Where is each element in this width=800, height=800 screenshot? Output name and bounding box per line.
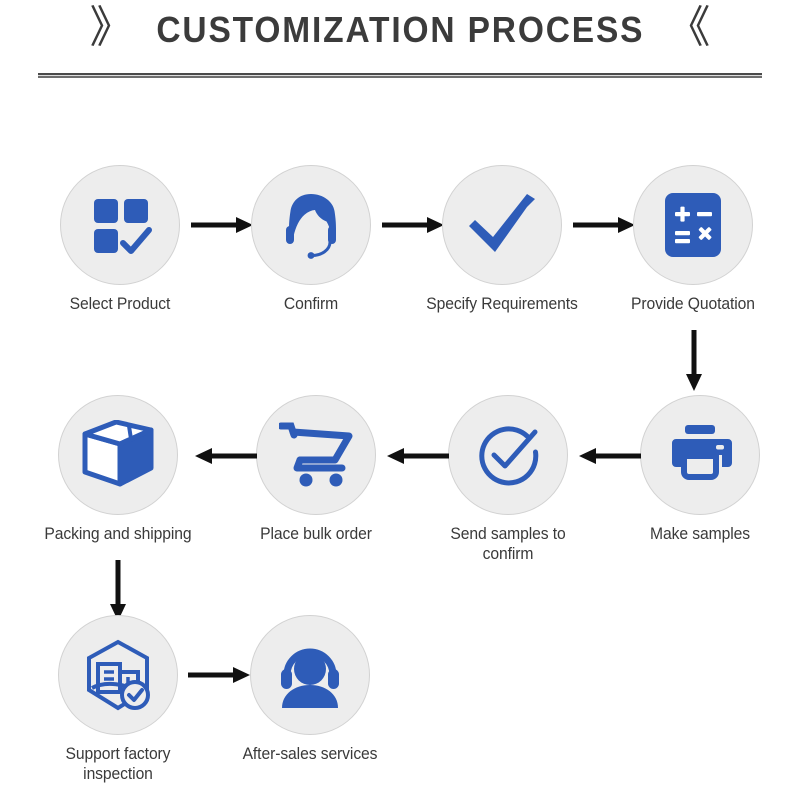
step-node-specify-requirements[interactable]: Specify Requirements (422, 165, 582, 314)
step-icon-circle (250, 615, 370, 735)
step-icon-circle (58, 395, 178, 515)
printer-icon (664, 423, 736, 487)
grid-check-icon (86, 191, 154, 259)
step-icon-circle (448, 395, 568, 515)
step-label: Make samples (624, 524, 776, 544)
step-label: Select Product (44, 294, 196, 314)
chevron-left-icon: 》 (90, 6, 134, 50)
step-label: After-sales services (234, 744, 386, 764)
title-text: CUSTOMIZATION PROCESS (156, 9, 644, 51)
step-icon-circle (256, 395, 376, 515)
step-node-support-factory-inspection[interactable]: Support factory inspection (38, 615, 198, 784)
shopping-cart-icon (279, 422, 353, 488)
circle-check-icon (472, 419, 544, 491)
step-label: Specify Requirements (426, 294, 578, 314)
chevron-right-icon: 《 (666, 6, 710, 50)
step-node-provide-quotation[interactable]: Provide Quotation (613, 165, 773, 314)
page-title: 》 CUSTOMIZATION PROCESS 《 (0, 8, 800, 52)
checkmark-icon (465, 190, 539, 260)
step-label: Packing and shipping (42, 524, 194, 544)
title-divider (38, 73, 762, 78)
headphones-person-icon (274, 642, 346, 708)
step-node-packing-and-shipping[interactable]: Packing and shipping (38, 395, 198, 544)
step-icon-circle (58, 615, 178, 735)
factory-audit-icon (81, 638, 155, 712)
step-label: Place bulk order (240, 524, 392, 544)
arrow-4-to-5 (683, 330, 705, 392)
infographic-canvas: 》 CUSTOMIZATION PROCESS 《 Select Product (0, 0, 800, 800)
step-node-confirm[interactable]: Confirm (231, 165, 391, 314)
headset-agent-icon (275, 189, 347, 261)
step-label: Support factory inspection (42, 744, 194, 784)
step-node-after-sales-services[interactable]: After-sales services (230, 615, 390, 764)
step-label: Send samples to confirm (432, 524, 584, 564)
step-node-select-product[interactable]: Select Product (40, 165, 200, 314)
step-node-make-samples[interactable]: Make samples (620, 395, 780, 544)
step-icon-circle (633, 165, 753, 285)
step-label: Provide Quotation (617, 294, 769, 314)
step-icon-circle (442, 165, 562, 285)
step-label: Confirm (235, 294, 387, 314)
step-node-send-samples-to-confirm[interactable]: Send samples to confirm (428, 395, 588, 564)
package-box-icon (81, 420, 155, 490)
step-icon-circle (60, 165, 180, 285)
step-icon-circle (640, 395, 760, 515)
arrow-7-to-8 (194, 445, 257, 467)
arrow-8-to-9 (107, 560, 129, 622)
calculator-icon (661, 191, 725, 259)
step-node-place-bulk-order[interactable]: Place bulk order (236, 395, 396, 544)
step-icon-circle (251, 165, 371, 285)
